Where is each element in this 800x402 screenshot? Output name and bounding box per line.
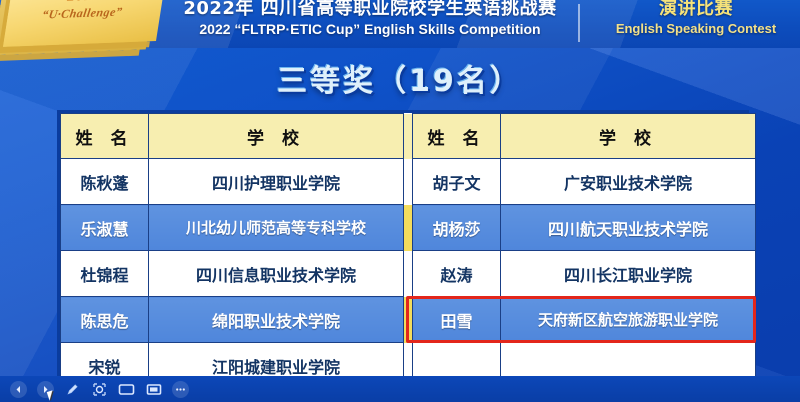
header-name-right: 姓 名	[413, 114, 501, 159]
cell-school-left: 川北幼儿师范高等专科学校	[149, 205, 404, 251]
cell-school-left: 绵阳职业技术学院	[149, 297, 404, 343]
column-divider	[404, 297, 413, 343]
cell-school-left: 四川护理职业学院	[149, 159, 404, 205]
slide-background: 2022 “U·Challenge” 2022年 四川省高等职业院校学生英语挑战…	[0, 0, 800, 402]
presentation-toolbar[interactable]	[0, 376, 800, 402]
contest-type-en: English Speaking Contest	[592, 20, 800, 38]
slide-notes-icon[interactable]	[145, 381, 162, 398]
cell-school-right: 天府新区航空旅游职业学院	[501, 297, 756, 343]
winners-table-container: 姓 名学 校姓 名学 校陈秋蓬四川护理职业学院胡子文广安职业技术学院乐淑慧川北幼…	[57, 110, 749, 392]
table-row: 杜锦程四川信息职业技术学院赵涛四川长江职业学院	[61, 251, 756, 297]
competition-title-en: 2022 “FLTRP·ETIC Cup” English Skills Com…	[160, 20, 580, 38]
contest-type-block: 演讲比赛 English Speaking Contest	[592, 0, 800, 38]
competition-title-cn: 2022年 四川省高等职业院校学生英语挑战赛	[160, 0, 580, 20]
cell-name-left: 杜锦程	[61, 251, 149, 297]
cell-name-right: 田雪	[413, 297, 501, 343]
zoom-select-icon[interactable]	[91, 381, 108, 398]
column-divider	[404, 205, 413, 251]
cell-name-left: 陈思危	[61, 297, 149, 343]
table-row: 陈秋蓬四川护理职业学院胡子文广安职业技术学院	[61, 159, 756, 205]
cell-name-right: 赵涛	[413, 251, 501, 297]
header-name-left: 姓 名	[61, 114, 149, 159]
cell-school-left: 四川信息职业技术学院	[149, 251, 404, 297]
cell-school-right: 四川长江职业学院	[501, 251, 756, 297]
column-divider	[404, 251, 413, 297]
contest-type-cn: 演讲比赛	[592, 0, 800, 20]
previous-slide-icon[interactable]	[10, 381, 27, 398]
column-divider	[404, 159, 413, 205]
table-header-row: 姓 名学 校姓 名学 校	[61, 114, 756, 159]
pen-icon[interactable]	[64, 381, 81, 398]
more-options-icon[interactable]	[172, 381, 189, 398]
cell-name-left: 乐淑慧	[61, 205, 149, 251]
award-title: 三等奖（19名）	[0, 56, 800, 100]
column-divider	[404, 114, 413, 159]
u-challenge-logo: 2022 “U·Challenge”	[3, 0, 165, 47]
winners-table: 姓 名学 校姓 名学 校陈秋蓬四川护理职业学院胡子文广安职业技术学院乐淑慧川北幼…	[60, 113, 756, 389]
cell-name-right: 胡子文	[413, 159, 501, 205]
slide-header: 2022 “U·Challenge” 2022年 四川省高等职业院校学生英语挑战…	[0, 0, 800, 48]
header-school-right: 学 校	[501, 114, 756, 159]
competition-title-block: 2022年 四川省高等职业院校学生英语挑战赛 2022 “FLTRP·ETIC …	[160, 0, 580, 38]
cell-school-right: 广安职业技术学院	[501, 159, 756, 205]
cell-name-left: 陈秋蓬	[61, 159, 149, 205]
cell-name-right: 胡杨莎	[413, 205, 501, 251]
header-school-left: 学 校	[149, 114, 404, 159]
header-divider	[578, 4, 580, 42]
table-row: 陈思危绵阳职业技术学院田雪天府新区航空旅游职业学院	[61, 297, 756, 343]
table-row: 乐淑慧川北幼儿师范高等专科学校胡杨莎四川航天职业技术学院	[61, 205, 756, 251]
cell-school-right: 四川航天职业技术学院	[501, 205, 756, 251]
presentation-view-icon[interactable]	[118, 381, 135, 398]
